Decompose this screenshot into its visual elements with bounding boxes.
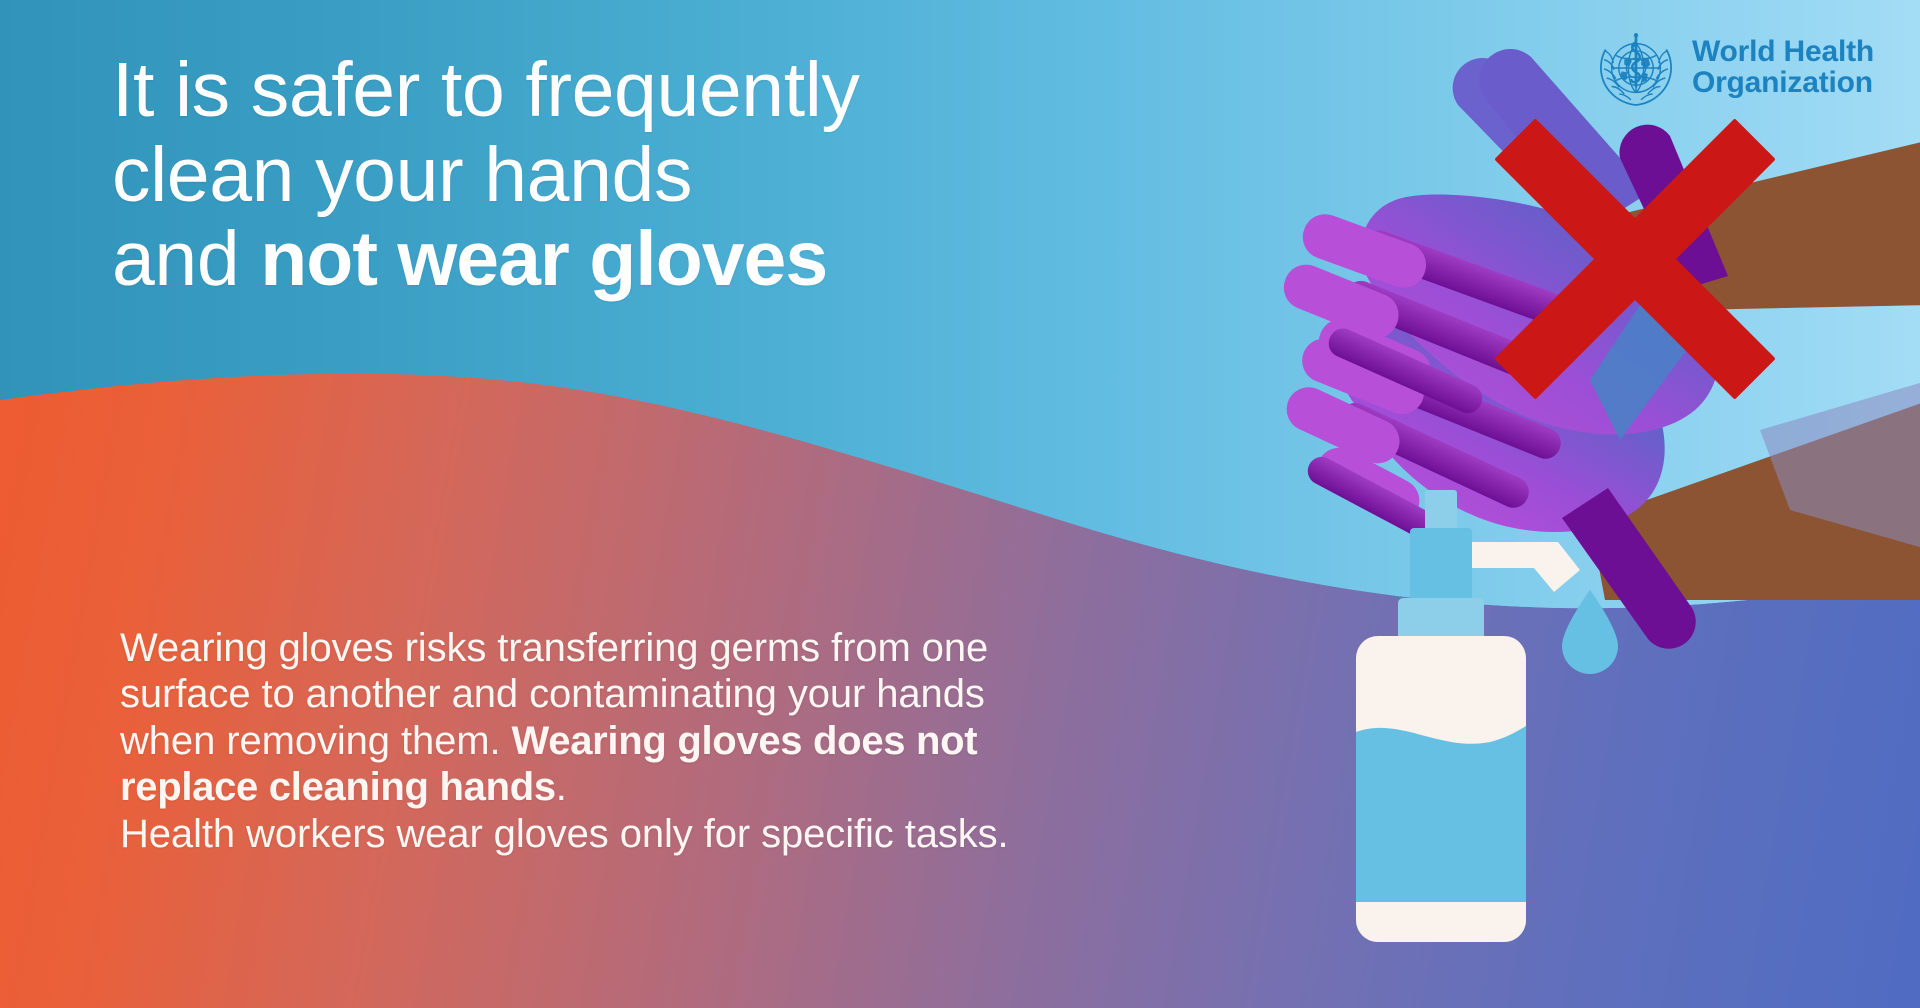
body-line-1: Wearing gloves risks transferring germs … — [120, 625, 1240, 671]
who-wordmark-line-1: World Health — [1692, 37, 1874, 68]
body-line-4-normal: . — [556, 765, 567, 809]
headline: It is safer to frequently clean your han… — [112, 48, 1172, 302]
headline-line-3-emphasis: not wear gloves — [260, 216, 827, 302]
who-infographic-poster: It is safer to frequently clean your han… — [0, 0, 1920, 1008]
headline-line-3-normal: and — [112, 216, 260, 302]
body-line-4-emphasis: replace cleaning hands — [120, 765, 556, 809]
body-line-3-normal: when removing them. — [120, 719, 512, 763]
body-line-4: replace cleaning hands. — [120, 764, 1240, 810]
body-line-5: Health workers wear gloves only for spec… — [120, 811, 1240, 857]
headline-line-2: clean your hands — [112, 133, 1172, 218]
body-copy: Wearing gloves risks transferring germs … — [120, 625, 1240, 857]
headline-line-3: and not wear gloves — [112, 217, 1172, 302]
headline-line-1: It is safer to frequently — [112, 48, 1172, 133]
sanitizer-droplet — [1562, 590, 1618, 674]
body-line-2: surface to another and contaminating you… — [120, 671, 1240, 717]
sanitizer-bottle — [1356, 490, 1580, 942]
body-line-3-emphasis: Wearing gloves does not — [512, 719, 978, 763]
hand-hygiene-illustration — [1290, 80, 1920, 960]
body-line-3: when removing them. Wearing gloves does … — [120, 718, 1240, 764]
